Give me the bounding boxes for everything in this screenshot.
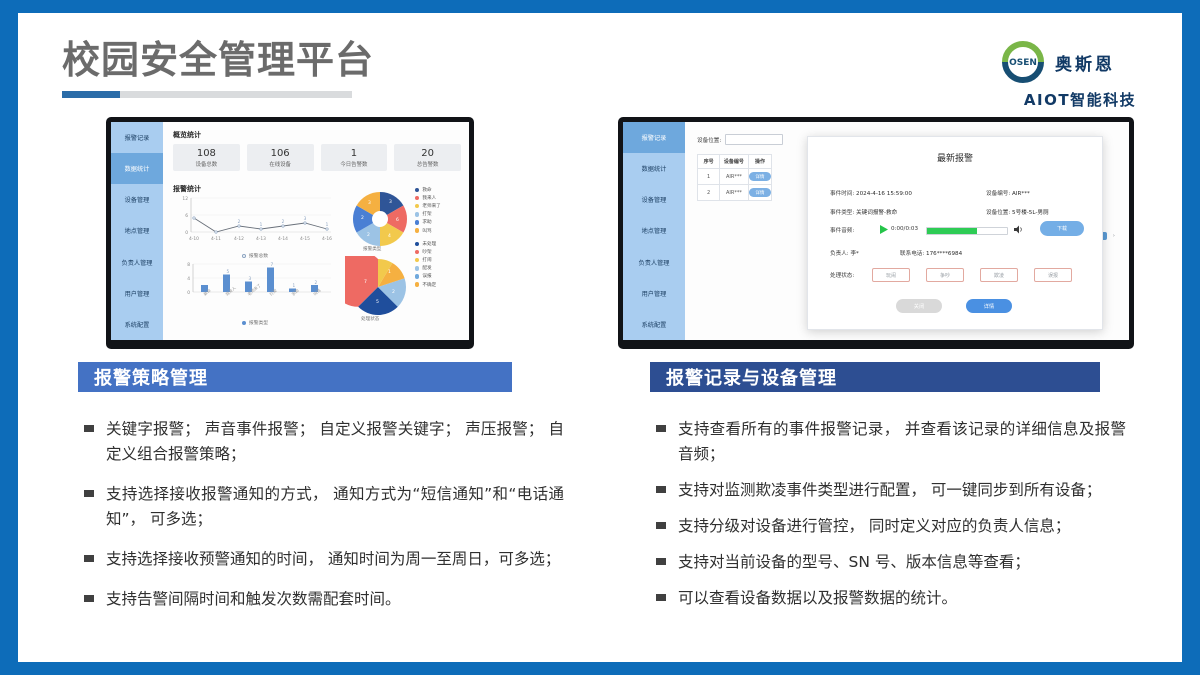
right-dashboard-screenshot: 报警记录 数据统计 设备管理 地点管理 负责人管理 用户管理 系统配置 设备位置… — [618, 117, 1134, 349]
svg-text:1: 1 — [293, 283, 296, 288]
field-device-id: 设备编号: AIR*** — [986, 189, 1030, 197]
status-option-quarrel[interactable]: 争吵 — [926, 268, 964, 282]
audio-progress-fill — [927, 228, 977, 234]
stat-label: 在线设备 — [247, 160, 314, 168]
svg-text:4-14: 4-14 — [278, 236, 288, 242]
title-underline-accent — [62, 91, 120, 98]
logo-brand-subtitle: AIOT智能科技 — [1000, 89, 1160, 110]
cell-no: 1 — [698, 169, 720, 185]
svg-text:4-11: 4-11 — [211, 236, 221, 242]
svg-text:4-16: 4-16 — [322, 236, 332, 242]
left-dashboard-screenshot: 报警记录 数据统计 设备管理 地点管理 负责人管理 用户管理 系统配置 概览统计… — [106, 117, 474, 349]
alarm-stats-heading: 报警统计 — [173, 184, 201, 194]
bullet-marker-icon — [656, 558, 666, 565]
cell-action: 详情 — [748, 169, 772, 185]
row-detail-button[interactable]: 详情 — [749, 172, 772, 181]
field-label: 联系电话: — [900, 251, 924, 257]
bullet-text: 支持告警间隔时间和触发次数需配套时间。 — [106, 587, 401, 612]
bullet-text: 支持对当前设备的型号、SN 号、版本信息等查看； — [678, 550, 1030, 575]
bullet-marker-icon — [656, 522, 666, 529]
cell-action: 详情 — [748, 185, 772, 201]
field-label: 事件时间: — [830, 191, 854, 197]
stat-value: 106 — [247, 148, 314, 159]
svg-text:2: 2 — [315, 280, 318, 285]
list-item: 支持对监测欺凌事件类型进行配置， 可一键同步到所有设备； — [656, 478, 1126, 503]
sidebar-item-device-mgmt[interactable]: 设备管理 — [111, 184, 163, 215]
legend-label: 救命 — [422, 187, 431, 193]
svg-text:4: 4 — [187, 276, 190, 282]
column-header-no: 序号 — [698, 155, 720, 169]
legend-label: 不确定 — [422, 282, 436, 288]
field-event-type: 事件类型: 关键词报警-救命 — [830, 208, 897, 216]
stat-value: 108 — [173, 148, 240, 159]
status-option-bullying[interactable]: 欺凌 — [980, 268, 1018, 282]
svg-text:3: 3 — [304, 216, 307, 221]
list-item: 支持分级对设备进行管控， 同时定义对应的负责人信息； — [656, 514, 1126, 539]
svg-text:4-13: 4-13 — [256, 236, 266, 242]
legend-label: 打闹 — [422, 257, 431, 263]
left-app-sidebar[interactable]: 报警记录 数据统计 设备管理 地点管理 负责人管理 用户管理 系统配置 — [111, 122, 163, 340]
field-value: 5号楼-5L-男厕 — [1012, 210, 1049, 216]
left-dashboard-viewport: 报警记录 数据统计 设备管理 地点管理 负责人管理 用户管理 系统配置 概览统计… — [111, 122, 469, 340]
legend-label: 打架 — [422, 211, 431, 217]
bullet-text: 可以查看设备数据以及报警数据的统计。 — [678, 586, 957, 611]
svg-text:3: 3 — [389, 199, 392, 205]
field-label: 设备位置: — [986, 210, 1010, 216]
list-item: 支持选择接收报警通知的方式， 通知方式为“短信通知”和“电话通知”， 可多选； — [84, 482, 564, 532]
svg-text:4-12: 4-12 — [234, 236, 244, 242]
field-label: 事件类型: — [830, 210, 854, 216]
bullet-text: 支持选择接收预警通知的时间， 通知时间为周一至周日，可多选； — [106, 547, 560, 572]
left-app-main: 概览统计 108 设备总数 106 在线设备 1 今日告警数 20 总告警数 — [163, 122, 469, 340]
sidebar-item-statistics[interactable]: 数据统计 — [111, 153, 163, 184]
overview-heading: 概览统计 — [173, 130, 201, 140]
svg-text:7: 7 — [271, 262, 274, 267]
brand-logo: OSEN 奥斯恩 AIOT智能科技 — [1000, 39, 1160, 110]
status-label: 处理状态: — [830, 271, 854, 279]
alarm-trend-line-chart: 12 6 0 2 1 2 3 1 4-10 — [171, 194, 339, 256]
legend-marker — [242, 254, 246, 258]
stat-card-total-devices: 108 设备总数 — [173, 144, 240, 171]
svg-text:1: 1 — [260, 222, 263, 227]
legend-item: 配发 — [415, 264, 436, 272]
list-item: 支持对当前设备的型号、SN 号、版本信息等查看； — [656, 550, 1126, 575]
svg-text:3: 3 — [249, 276, 252, 281]
right-dashboard-viewport: 报警记录 数据统计 设备管理 地点管理 负责人管理 用户管理 系统配置 设备位置… — [623, 122, 1129, 340]
bar-chart-legend: 报警类型 — [171, 319, 339, 326]
bar-chart-svg: 8 4 0 5 3 7 1 2 救命 我来人 — [171, 258, 339, 312]
legend-marker — [242, 321, 246, 325]
bullet-marker-icon — [656, 486, 666, 493]
bullet-marker-icon — [84, 555, 94, 562]
list-item: 可以查看设备数据以及报警数据的统计。 — [656, 586, 1126, 611]
stat-card-online-devices: 106 在线设备 — [247, 144, 314, 171]
cell-device: AIR*** — [720, 185, 748, 201]
svg-text:2: 2 — [238, 219, 241, 224]
donut-chart-caption: 报警类型 — [363, 246, 381, 252]
svg-text:1: 1 — [326, 222, 329, 227]
sidebar-item-statistics[interactable]: 数据统计 — [623, 153, 685, 184]
donut-chart-legend: 救命 我来人 老师来了 打架 求助 叫骂 — [415, 186, 441, 235]
legend-item: 救命 — [415, 186, 441, 194]
modal-detail-button[interactable]: 详情 — [966, 299, 1012, 313]
audio-timecode: 0:00/0:03 — [891, 226, 918, 232]
svg-text:求助: 求助 — [290, 287, 300, 297]
title-underline — [62, 91, 352, 98]
alarm-records-table: 序号 设备编号 操作 1 AIR*** 详情 2 AIR*** 详情 — [697, 154, 772, 201]
field-phone: 联系电话: 176****6984 — [900, 249, 962, 257]
legend-label: 叫骂 — [422, 228, 431, 234]
bullet-text: 支持查看所有的事件报警记录， 并查看该记录的详细信息及报警音频； — [678, 417, 1126, 467]
stat-value: 1 — [321, 148, 388, 159]
sidebar-item-system-config[interactable]: 系统配置 — [111, 309, 163, 340]
list-item: 支持查看所有的事件报警记录， 并查看该记录的详细信息及报警音频； — [656, 417, 1126, 467]
sidebar-item-system-config[interactable]: 系统配置 — [623, 309, 685, 340]
modal-close-button[interactable]: 关闭 — [896, 299, 942, 313]
svg-text:4-15: 4-15 — [300, 236, 310, 242]
legend-label: 误报 — [422, 273, 431, 279]
svg-text:4-10: 4-10 — [189, 236, 199, 242]
right-app-main: 设备位置: 序号 设备编号 操作 1 AIR*** 详情 2 — [685, 122, 1129, 340]
legend-item: 我来人 — [415, 194, 441, 202]
device-location-filter[interactable]: 设备位置: — [697, 134, 783, 145]
bullet-marker-icon — [84, 595, 94, 602]
legend-item: 打闹 — [415, 256, 436, 264]
alarm-type-bar-chart: 8 4 0 5 3 7 1 2 救命 我来人 — [171, 258, 339, 320]
page-title: 校园安全管理平台 — [62, 37, 374, 85]
svg-text:OSEN: OSEN — [1009, 58, 1037, 68]
line-chart-svg: 12 6 0 2 1 2 3 1 4-10 — [171, 194, 339, 246]
legend-label: 报警类型 — [249, 319, 268, 326]
field-owner: 负责人: 李* — [830, 249, 859, 257]
svg-text:0: 0 — [185, 230, 188, 236]
download-audio-button[interactable]: 下载 — [1040, 221, 1084, 236]
legend-label: 我来人 — [422, 195, 436, 201]
right-app-sidebar[interactable]: 报警记录 数据统计 设备管理 地点管理 负责人管理 用户管理 系统配置 — [623, 122, 685, 340]
bullet-text: 支持选择接收报警通知的方式， 通知方式为“短信通知”和“电话通知”， 可多选； — [106, 482, 564, 532]
svg-text:6: 6 — [396, 217, 399, 223]
stat-label: 设备总数 — [173, 160, 240, 168]
section-heading-records-devices: 报警记录与设备管理 — [650, 362, 1100, 392]
legend-label: 配发 — [422, 265, 431, 271]
bullet-text: 支持分级对设备进行管控， 同时定义对应的负责人信息； — [678, 514, 1070, 539]
legend-label: 求助 — [422, 219, 431, 225]
modal-title: 最新报警 — [808, 151, 1102, 164]
audio-label: 事件音频: — [830, 226, 854, 234]
svg-text:2: 2 — [282, 219, 285, 224]
latest-alarm-modal: 最新报警 事件时间: 2024-4-16 15:59:00 设备编号: AIR*… — [807, 136, 1103, 330]
table-row: 2 AIR*** 详情 — [698, 185, 772, 201]
stat-card-row: 108 设备总数 106 在线设备 1 今日告警数 20 总告警数 — [173, 144, 461, 171]
svg-text:5: 5 — [227, 269, 230, 274]
list-item: 支持选择接收预警通知的时间， 通知时间为周一至周日，可多选； — [84, 547, 564, 572]
status-option-play[interactable]: 玩闹 — [872, 268, 910, 282]
cell-device: AIR*** — [720, 169, 748, 185]
bullet-text: 关键字报警； 声音事件报警； 自定义报警关键字； 声压报警； 自定义组合报警策略… — [106, 417, 564, 467]
audio-progress-bar[interactable] — [926, 227, 1008, 235]
slide-canvas: 校园安全管理平台 OSEN 奥斯恩 AIOT智能科技 报警记录 数据统计 设备管… — [0, 0, 1200, 675]
osen-ring-icon: OSEN — [1000, 39, 1046, 85]
svg-text:0: 0 — [187, 290, 190, 296]
bullet-marker-icon — [84, 425, 94, 432]
page-title-block: 校园安全管理平台 — [62, 37, 374, 98]
logo-row: OSEN 奥斯恩 — [1000, 39, 1160, 85]
legend-item: 误报 — [415, 272, 436, 280]
field-value: AIR*** — [1012, 191, 1030, 197]
filter-label: 设备位置: — [697, 136, 721, 144]
pie-chart-caption: 处理状态 — [361, 316, 379, 322]
column-header-action: 操作 — [748, 155, 772, 169]
svg-text:4: 4 — [388, 233, 391, 239]
bullet-marker-icon — [656, 594, 666, 601]
legend-item: 吵架 — [415, 248, 436, 256]
section-heading-alarm-policy: 报警策略管理 — [78, 362, 512, 392]
legend-label: 吵架 — [422, 249, 431, 255]
svg-text:6: 6 — [185, 213, 188, 219]
play-icon[interactable] — [880, 225, 888, 234]
logo-brand-name: 奥斯恩 — [1055, 50, 1115, 75]
legend-item: 老师来了 — [415, 202, 441, 210]
field-event-time: 事件时间: 2024-4-16 15:59:00 — [830, 189, 912, 197]
bullet-text: 支持对监测欺凌事件类型进行配置， 可一键同步到所有设备； — [678, 478, 1101, 503]
sidebar-item-alarm-records[interactable]: 报警记录 — [623, 122, 685, 153]
legend-label: 未处理 — [422, 241, 436, 247]
pie-chart-svg: 7 5 2 1 — [345, 256, 411, 322]
donut-chart-svg: 3 6 4 2 2 3 — [349, 188, 411, 250]
sidebar-item-device-mgmt[interactable]: 设备管理 — [623, 184, 685, 215]
sidebar-item-user-mgmt[interactable]: 用户管理 — [623, 278, 685, 309]
handling-status-pie-chart: 7 5 2 1 处理状态 — [345, 256, 411, 322]
svg-text:3: 3 — [368, 200, 371, 206]
bullet-marker-icon — [656, 425, 666, 432]
slide-page: 校园安全管理平台 OSEN 奥斯恩 AIOT智能科技 报警记录 数据统计 设备管… — [18, 13, 1182, 662]
volume-icon[interactable] — [1014, 225, 1024, 234]
table-row: 1 AIR*** 详情 — [698, 169, 772, 185]
sidebar-item-alarm-records[interactable]: 报警记录 — [111, 122, 163, 153]
status-option-false-alarm[interactable]: 误报 — [1034, 268, 1072, 282]
svg-text:2: 2 — [361, 215, 364, 221]
legend-item: 未处理 — [415, 240, 436, 248]
bullet-marker-icon — [84, 490, 94, 497]
field-value: 李* — [850, 251, 858, 257]
legend-item: 叫骂 — [415, 226, 441, 234]
field-device-location: 设备位置: 5号楼-5L-男厕 — [986, 208, 1049, 216]
field-label: 负责人: — [830, 251, 849, 257]
svg-text:1: 1 — [388, 269, 391, 275]
alarm-type-donut-chart: 3 6 4 2 2 3 报警类型 — [349, 188, 411, 250]
stat-label: 总告警数 — [394, 160, 461, 168]
column-header-device: 设备编号 — [720, 155, 748, 169]
field-value: 2024-4-16 15:59:00 — [856, 191, 912, 197]
stat-label: 今日告警数 — [321, 160, 388, 168]
next-page-button[interactable]: › — [1113, 233, 1115, 239]
svg-text:2: 2 — [367, 232, 370, 238]
stat-card-today-alarms: 1 今日告警数 — [321, 144, 388, 171]
field-value: 关键词报警-救命 — [856, 210, 897, 216]
list-item: 支持告警间隔时间和触发次数需配套时间。 — [84, 587, 564, 612]
cell-no: 2 — [698, 185, 720, 201]
sidebar-item-owner-mgmt[interactable]: 负责人管理 — [623, 247, 685, 278]
list-item: 关键字报警； 声音事件报警； 自定义报警关键字； 声压报警； 自定义组合报警策略… — [84, 417, 564, 467]
stat-value: 20 — [394, 148, 461, 159]
svg-text:2: 2 — [392, 289, 395, 295]
pie-chart-legend: 未处理 吵架 打闹 配发 误报 不确定 — [415, 240, 436, 289]
bullet-list-right: 支持查看所有的事件报警记录， 并查看该记录的详细信息及报警音频； 支持对监测欺凌… — [656, 417, 1126, 622]
legend-label: 老师来了 — [422, 203, 440, 209]
field-label: 设备编号: — [986, 191, 1010, 197]
row-detail-button[interactable]: 详情 — [749, 188, 772, 197]
legend-item: 不确定 — [415, 280, 436, 288]
svg-text:7: 7 — [364, 279, 367, 285]
svg-text:12: 12 — [182, 196, 188, 202]
bullet-list-left: 关键字报警； 声音事件报警； 自定义报警关键字； 声压报警； 自定义组合报警策略… — [84, 417, 564, 627]
field-value: 176****6984 — [926, 251, 962, 257]
svg-text:5: 5 — [376, 299, 379, 305]
device-location-input[interactable] — [725, 134, 783, 145]
sidebar-item-location-mgmt[interactable]: 地点管理 — [623, 215, 685, 246]
table-header-row: 序号 设备编号 操作 — [698, 155, 772, 169]
stat-card-total-alarms: 20 总告警数 — [394, 144, 461, 171]
legend-item: 打架 — [415, 210, 441, 218]
sidebar-item-user-mgmt[interactable]: 用户管理 — [111, 278, 163, 309]
legend-item: 求助 — [415, 218, 441, 226]
sidebar-item-owner-mgmt[interactable]: 负责人管理 — [111, 247, 163, 278]
sidebar-item-location-mgmt[interactable]: 地点管理 — [111, 215, 163, 246]
svg-text:8: 8 — [187, 262, 190, 268]
